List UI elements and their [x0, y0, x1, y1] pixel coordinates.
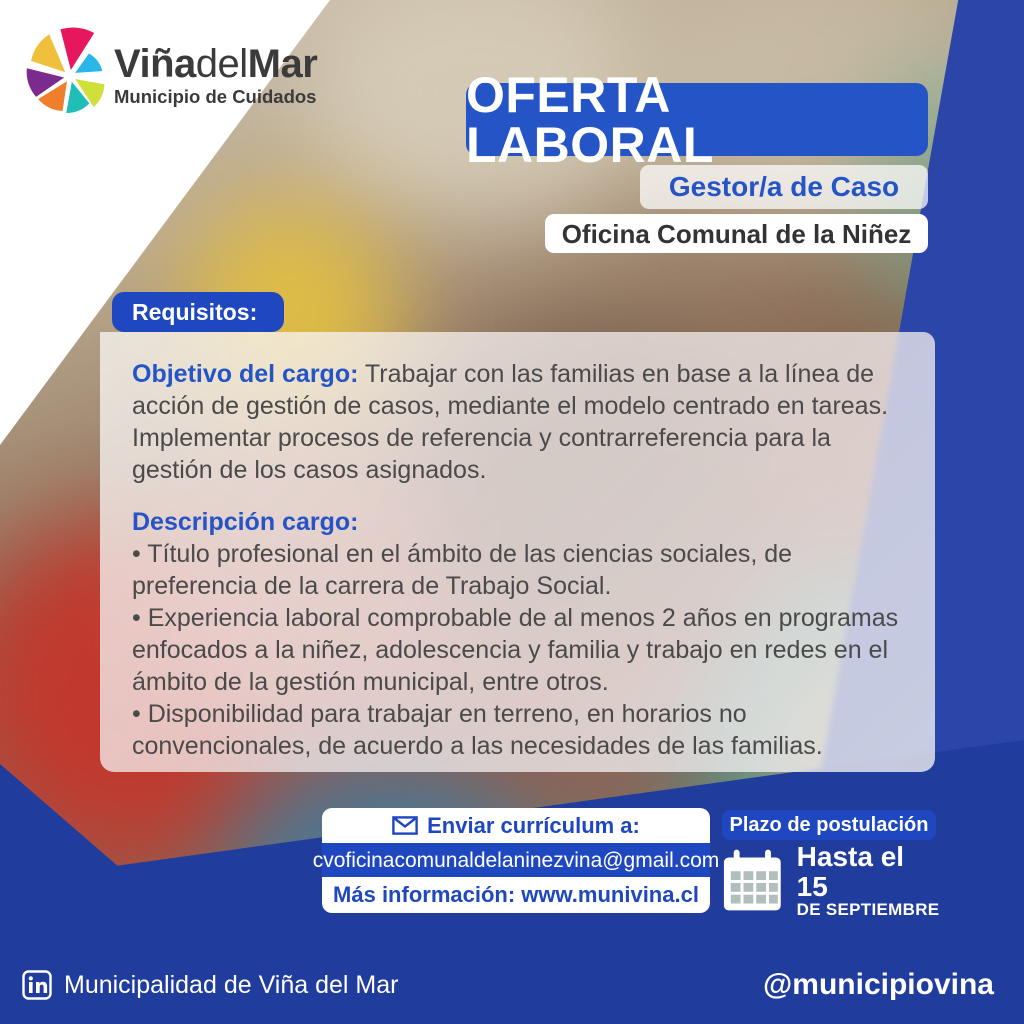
role-chip: Gestor/a de Caso	[640, 165, 928, 209]
logo-wordmark: ViñadelMar Municipio de Cuidados	[114, 44, 317, 107]
send-cv-row: Enviar currículum a:	[322, 808, 710, 843]
role-label: Gestor/a de Caso	[669, 173, 899, 201]
envelope-icon	[392, 816, 418, 835]
descripcion-bullet-1: • Título profesional en el ámbito de las…	[132, 538, 905, 602]
email-bar[interactable]: cvoficinacomunaldelaninezvina@gmail.com	[322, 843, 710, 877]
logo-name: ViñadelMar	[114, 44, 317, 84]
banner-title: OFERTA LABORAL	[466, 70, 928, 170]
deadline-text: Hasta el 15 DE SEPTIEMBRE	[797, 842, 940, 919]
job-offer-poster: ViñadelMar Municipio de Cuidados OFERTA …	[0, 0, 1024, 1024]
email-address[interactable]: cvoficinacomunaldelaninezvina@gmail.com	[313, 850, 720, 871]
office-label: Oficina Comunal de la Niñez	[562, 221, 912, 247]
footer-handle[interactable]: @municipiovina	[763, 970, 994, 1000]
pinwheel-logo-icon	[18, 24, 122, 128]
objetivo-label: Objetivo del cargo:	[132, 360, 358, 388]
office-chip: Oficina Comunal de la Niñez	[545, 214, 928, 253]
contact-block: Enviar currículum a: cvoficinacomunaldel…	[322, 808, 710, 913]
handle-label[interactable]: @municipiovina	[763, 968, 994, 1001]
logo-subtitle: Municipio de Cuidados	[114, 87, 317, 107]
deadline-month: DE SEPTIEMBRE	[797, 901, 940, 920]
deadline-body: Hasta el 15 DE SEPTIEMBRE	[720, 846, 940, 916]
more-info-label[interactable]: Más información: www.munivina.cl	[333, 884, 699, 906]
vina-del-mar-logo: ViñadelMar Municipio de Cuidados	[18, 20, 294, 132]
oferta-laboral-banner: OFERTA LABORAL	[466, 83, 928, 156]
requisitos-label: Requisitos:	[132, 301, 257, 324]
deadline-badge: Plazo de postulación	[722, 810, 936, 840]
descripcion-label: Descripción cargo:	[132, 506, 905, 538]
deadline-main: Hasta el 15	[797, 842, 940, 901]
requisitos-badge: Requisitos:	[112, 292, 284, 332]
send-cv-label: Enviar currículum a:	[427, 815, 640, 837]
linkedin-icon[interactable]	[22, 970, 52, 1000]
requirements-card: Objetivo del cargo: Trabajar con las fam…	[100, 332, 935, 772]
linkedin-name[interactable]: Municipalidad de Viña del Mar	[64, 973, 398, 998]
objetivo-paragraph: Objetivo del cargo: Trabajar con las fam…	[132, 358, 905, 486]
calendar-icon	[720, 849, 785, 913]
more-info-row[interactable]: Más información: www.munivina.cl	[322, 877, 710, 913]
deadline-badge-label: Plazo de postulación	[730, 815, 929, 835]
descripcion-bullet-2: • Experiencia laboral comprobable de al …	[132, 602, 905, 698]
descripcion-bullet-3: • Disponibilidad para trabajar en terren…	[132, 698, 905, 762]
footer-linkedin[interactable]: Municipalidad de Viña del Mar	[22, 970, 398, 1000]
